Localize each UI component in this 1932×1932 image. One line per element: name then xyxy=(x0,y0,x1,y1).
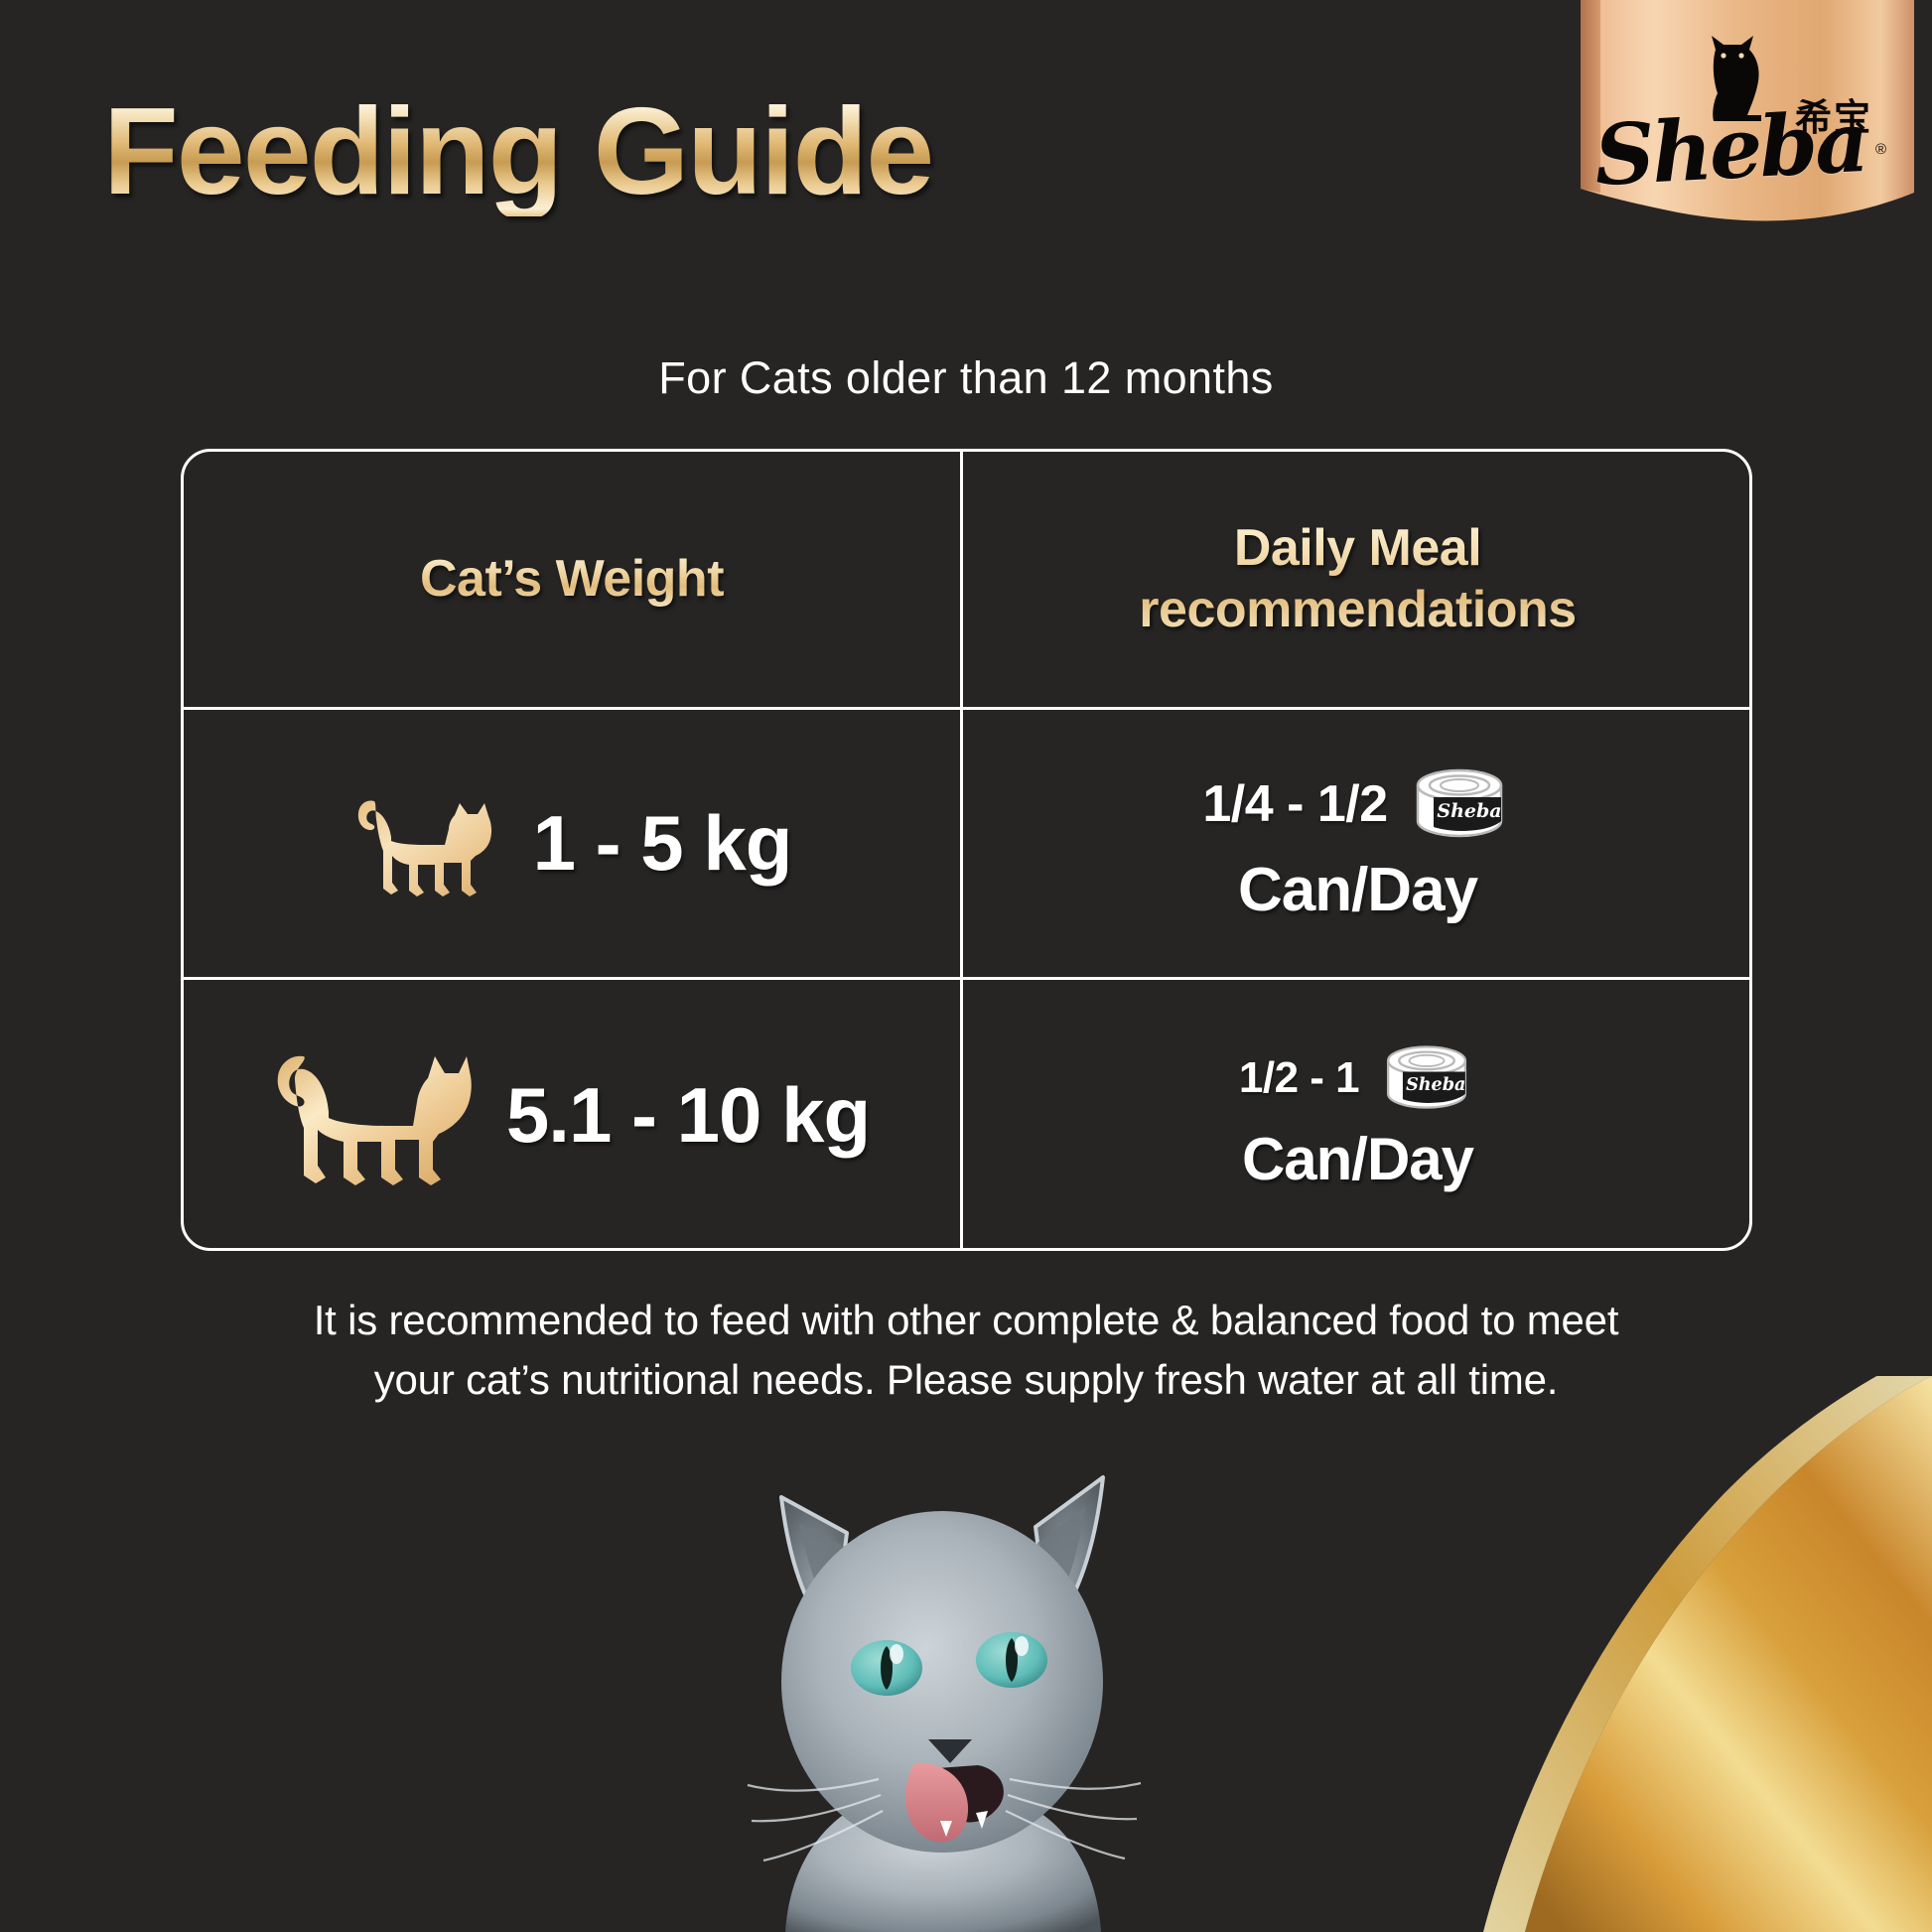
meal-fraction: 1/2 - 1 xyxy=(1239,1053,1359,1103)
small-cat-silhouette-icon xyxy=(352,785,499,902)
feeding-disclaimer: It is recommended to feed with other com… xyxy=(179,1291,1753,1409)
large-cat-silhouette-icon xyxy=(274,1040,473,1191)
sheba-can-icon: Sheba xyxy=(1406,761,1513,847)
column-header-line1: Daily Meal xyxy=(1234,519,1481,577)
column-header-label: Daily Meal recommendations xyxy=(1139,518,1576,640)
sheba-logo: Sheba 希宝 ® xyxy=(1559,0,1914,236)
svg-text:Sheba: Sheba xyxy=(1406,1074,1465,1095)
disclaimer-line2: your cat’s nutritional needs. Please sup… xyxy=(374,1356,1559,1403)
svg-text:Sheba: Sheba xyxy=(1437,800,1501,822)
table-row: 1/4 - 1/2 Sheba Can/Day xyxy=(963,710,1752,977)
column-header-label: Cat’s Weight xyxy=(420,549,724,610)
page-subtitle: For Cats older than 12 months xyxy=(0,352,1932,404)
logo-banner-shape xyxy=(1559,0,1914,236)
meal-unit: Can/Day xyxy=(1242,1125,1473,1193)
meal-unit: Can/Day xyxy=(1238,855,1477,925)
meal-fraction: 1/4 - 1/2 xyxy=(1202,774,1387,834)
russian-blue-cat-photo xyxy=(730,1416,1157,1932)
feeding-guide-poster: Sheba 希宝 ® Feeding Guide For Cats older … xyxy=(0,0,1932,1932)
table-row: 1 - 5 kg xyxy=(184,710,960,977)
column-header-line2: recommendations xyxy=(1139,581,1576,638)
meal-amount-row: 1/4 - 1/2 Sheba xyxy=(1202,761,1512,847)
table-row: 1/2 - 1 Sheba Can/Day xyxy=(963,980,1752,1251)
page-title: Feeding Guide xyxy=(103,87,932,216)
table-header-weight: Cat’s Weight xyxy=(184,452,960,707)
table-row: 5.1 - 10 kg xyxy=(184,980,960,1251)
sheba-can-icon: Sheba xyxy=(1377,1037,1476,1119)
disclaimer-line1: It is recommended to feed with other com… xyxy=(314,1297,1619,1343)
table-header-meal: Daily Meal recommendations xyxy=(963,452,1752,707)
meal-amount-row: 1/2 - 1 Sheba xyxy=(1239,1037,1476,1119)
gold-swoosh-corner xyxy=(1376,1376,1932,1932)
weight-value: 5.1 - 10 kg xyxy=(506,1070,870,1161)
feeding-table: Cat’s Weight Daily Meal recommendations xyxy=(181,449,1752,1251)
weight-value: 1 - 5 kg xyxy=(533,798,792,889)
